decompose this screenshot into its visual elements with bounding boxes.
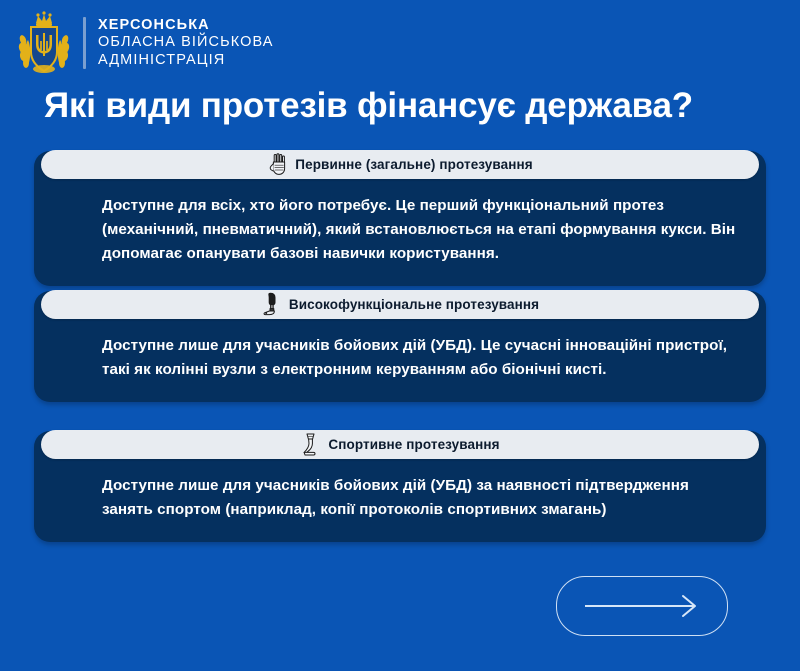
card-body-text: Доступне для всіх, хто його потребує. Це… [102,194,738,266]
card-body-text: Доступне лише для учасників бойових дій … [102,334,738,382]
arrow-right-icon [583,593,701,619]
card-title: Високофункціональне протезування [289,297,539,312]
card-title: Спортивне протезування [328,437,499,452]
brand-line-1: ХЕРСОНСЬКА [98,18,274,34]
prosthetic-leg-icon [261,292,283,317]
card-body: Доступне лише для учасників бойових дій … [34,460,766,542]
info-card: Високофункціональне протезування Доступн… [34,291,766,402]
brand-header: ХЕРСОНСЬКА ОБЛАСНА ВІЙСЬКОВА АДМІНІСТРАЦ… [0,0,800,86]
card-header: Первинне (загальне) протезування [41,150,759,179]
card-body-text: Доступне лише для учасників бойових дій … [102,474,738,522]
brand-text: ХЕРСОНСЬКА ОБЛАСНА ВІЙСЬКОВА АДМІНІСТРАЦ… [98,18,274,69]
page-title: Які види протезів фінансує держава? [44,86,760,126]
next-button[interactable] [556,576,728,636]
card-body: Доступне лише для учасників бойових дій … [34,320,766,402]
info-card: Первинне (загальне) протезування Доступн… [34,151,766,286]
prosthetic-hand-icon [267,152,289,177]
card-header: Спортивне протезування [41,430,759,459]
brand-divider [83,17,86,69]
card-title: Первинне (загальне) протезування [295,157,532,172]
slide-root: ХЕРСОНСЬКА ОБЛАСНА ВІЙСЬКОВА АДМІНІСТРАЦ… [0,0,800,671]
brand-line-3: АДМІНІСТРАЦІЯ [98,53,274,69]
card-header: Високофункціональне протезування [41,290,759,319]
info-card: Спортивне протезування Доступне лише для… [34,431,766,542]
kherson-coat-of-arms-icon [16,10,72,76]
sport-blade-prosthesis-icon [300,432,322,457]
brand-line-2: ОБЛАСНА ВІЙСЬКОВА [98,35,274,51]
card-body: Доступне для всіх, хто його потребує. Це… [34,180,766,286]
